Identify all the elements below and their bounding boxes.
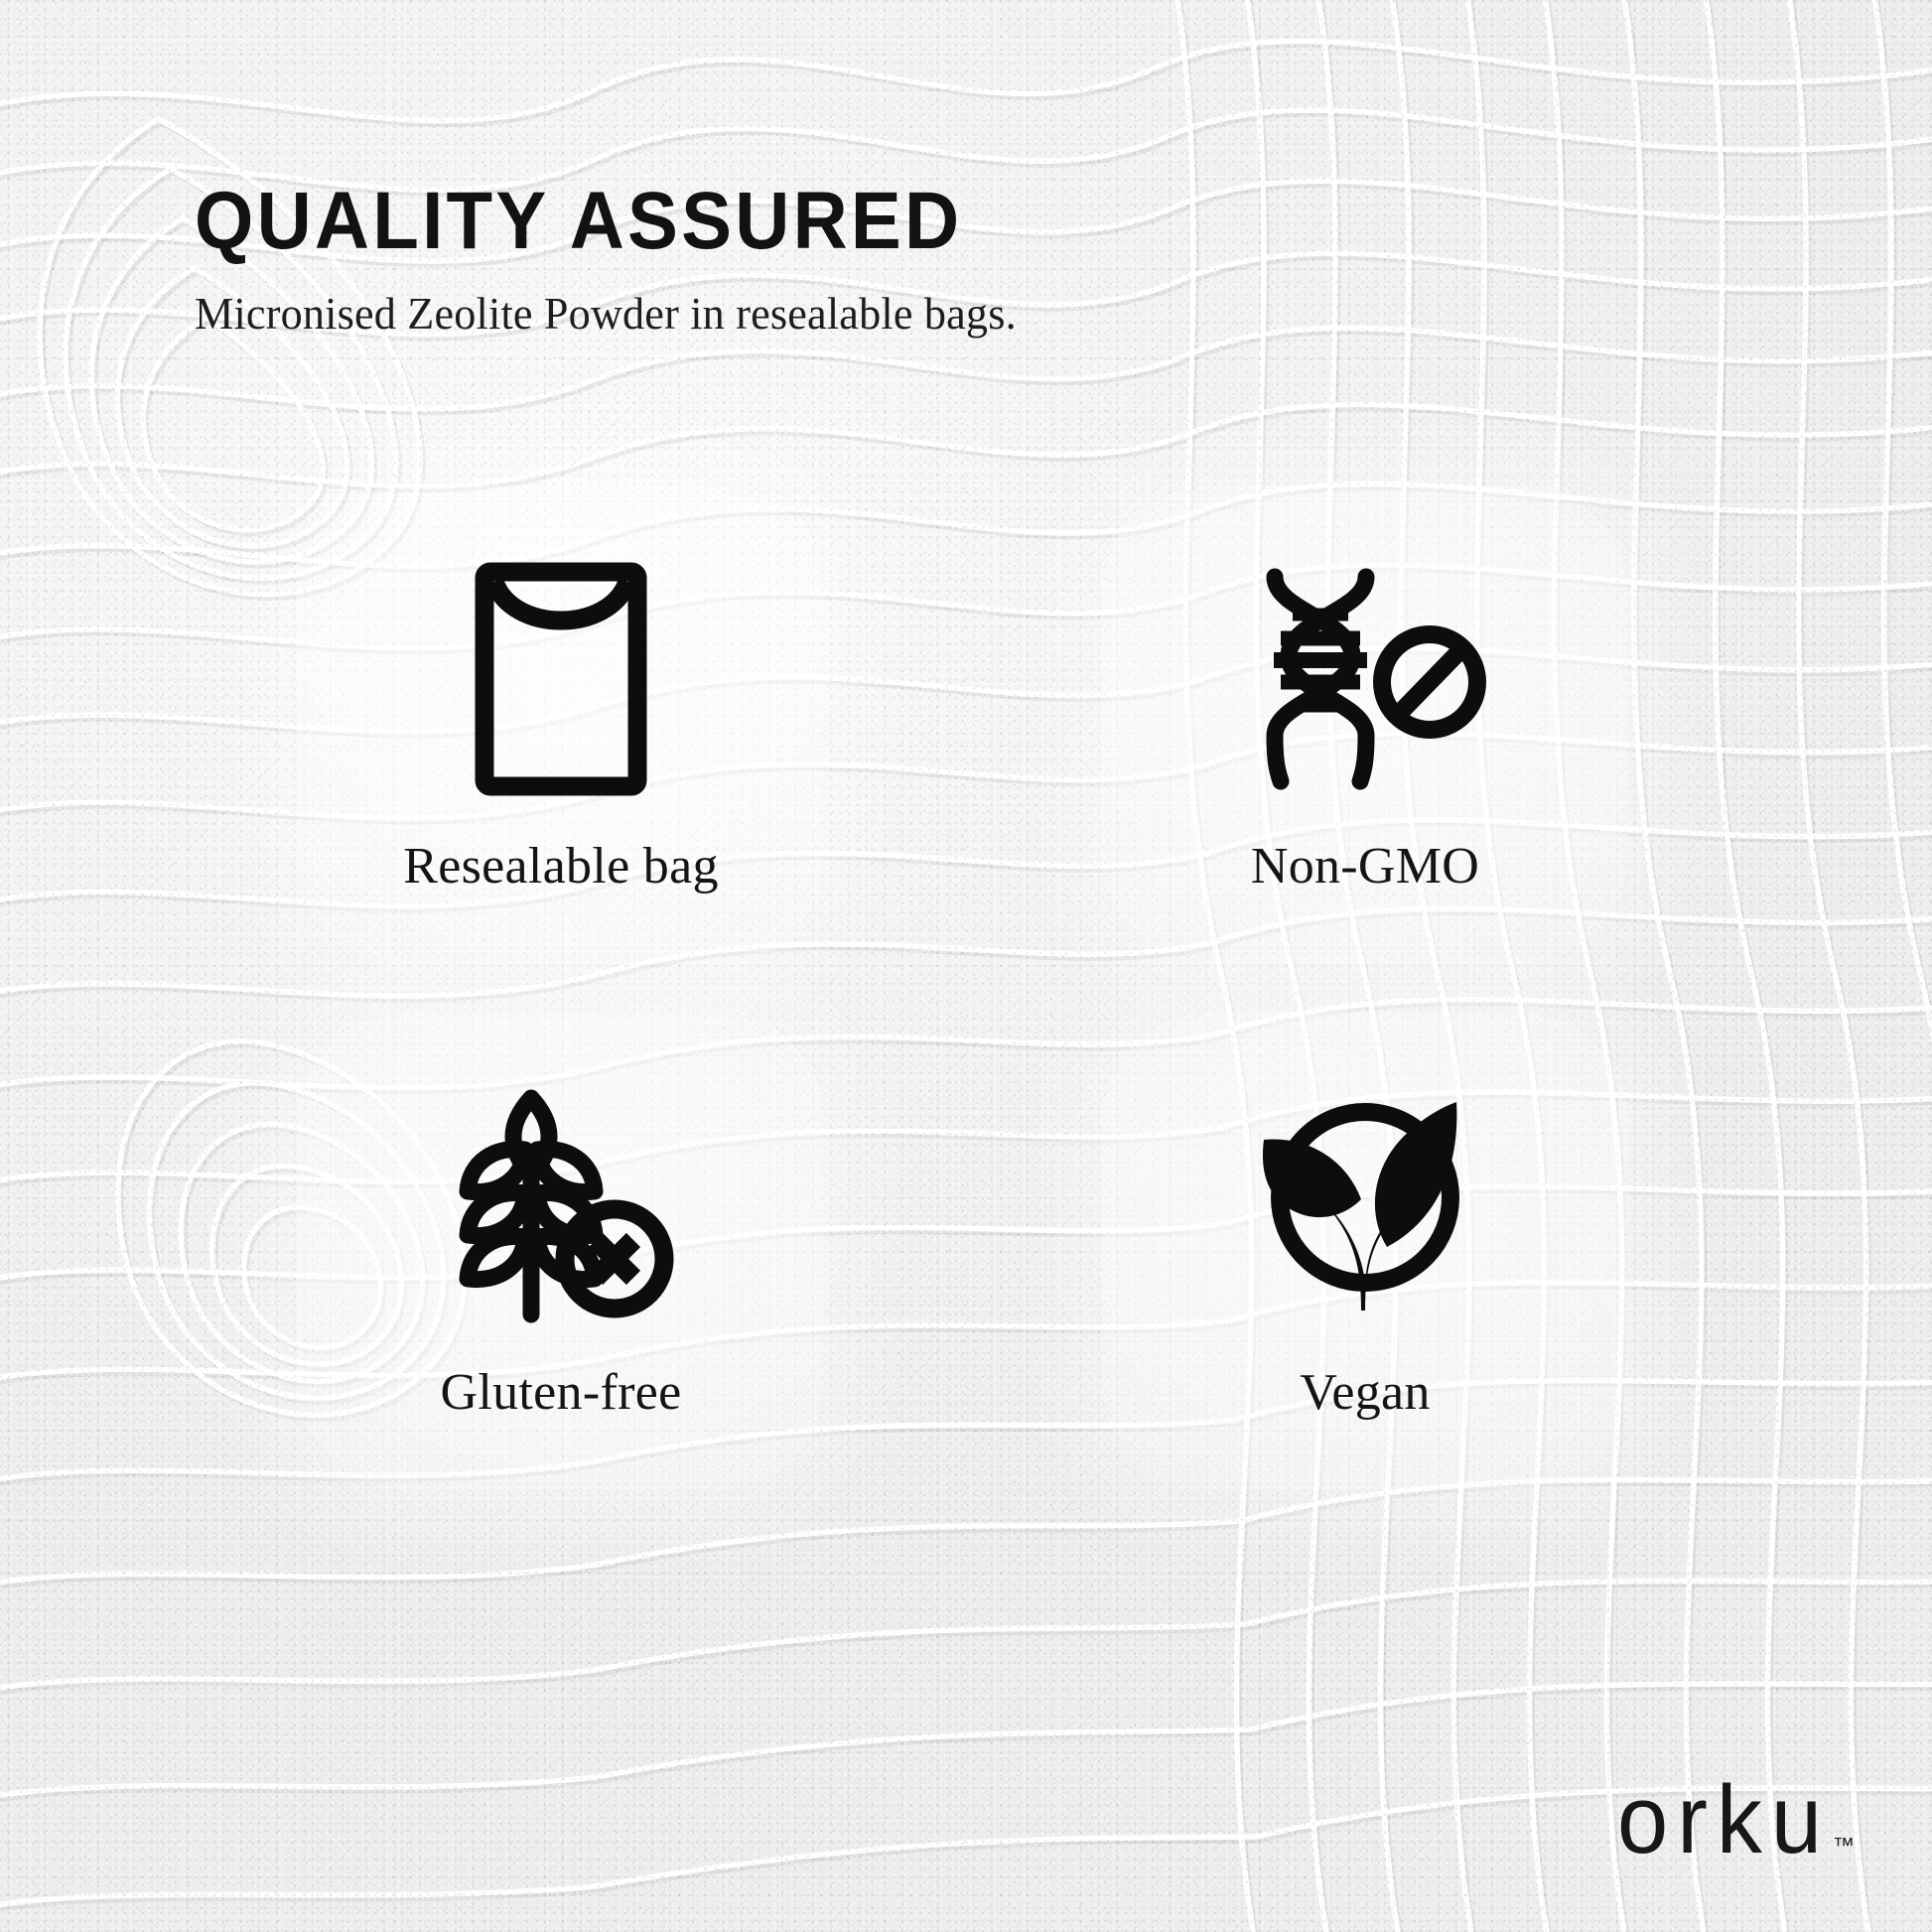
feature-label: Resealable bag xyxy=(403,837,719,896)
feature-card-resealable-bag: Resealable bag xyxy=(298,486,824,963)
resealable-bag-icon xyxy=(473,555,649,803)
feature-card-vegan: Vegan xyxy=(1102,1013,1628,1489)
feature-label: Gluten-free xyxy=(441,1363,682,1422)
feature-card-gluten-free: Gluten-free xyxy=(298,1013,824,1489)
feature-grid: Resealable bag xyxy=(298,486,1628,1489)
leaf-circle-icon xyxy=(1248,1081,1482,1329)
quality-assured-infographic: QUALITY ASSURED Micronised Zeolite Powde… xyxy=(0,0,1932,1932)
trademark-symbol: ™ xyxy=(1833,1833,1855,1859)
feature-label: Non-GMO xyxy=(1251,837,1479,896)
brand-logo: orku ™ xyxy=(1617,1780,1855,1866)
feature-card-non-gmo: Non-GMO xyxy=(1102,486,1628,963)
page-title: QUALITY ASSURED xyxy=(195,181,1303,262)
dna-prohibited-icon xyxy=(1241,555,1489,803)
wheat-crossed-out-icon xyxy=(444,1081,678,1329)
brand-name: orku xyxy=(1617,1774,1831,1866)
page-subtitle: Micronised Zeolite Powder in resealable … xyxy=(195,288,1338,341)
feature-label: Vegan xyxy=(1300,1363,1430,1422)
header: QUALITY ASSURED Micronised Zeolite Powde… xyxy=(195,181,1386,341)
